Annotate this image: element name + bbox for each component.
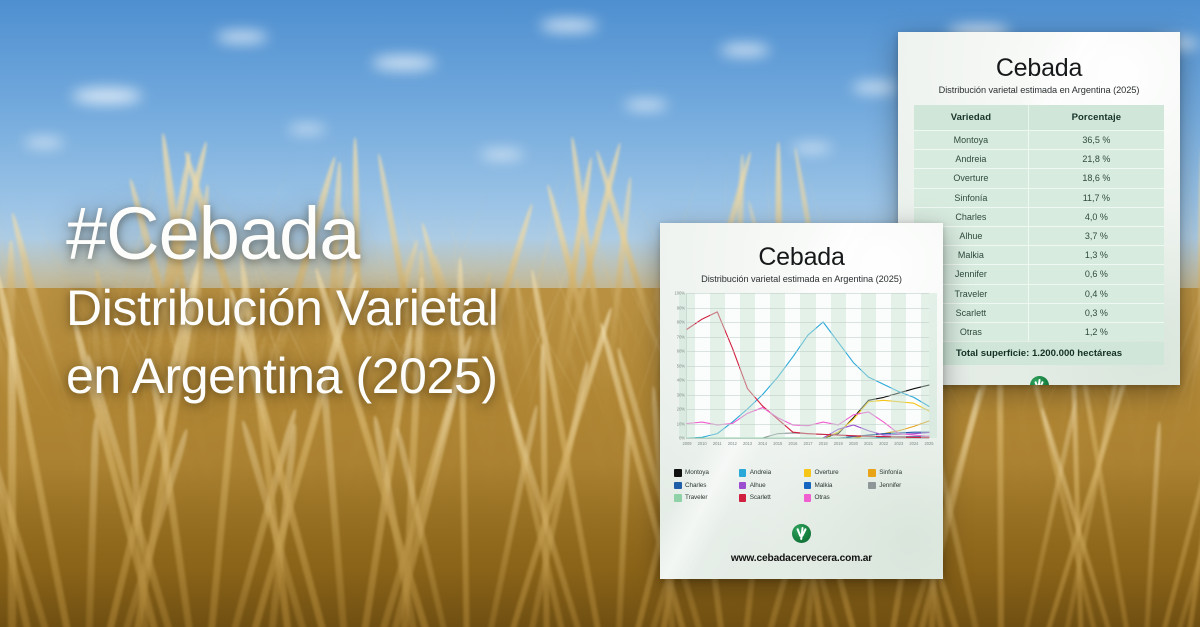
x-axis-tick-label: 2024 [909,441,918,446]
cell-percentage: 0,3 % [1028,303,1164,322]
table-row[interactable]: Scarlett 0,3 % [914,303,1164,322]
legend-label: Scarlett [750,494,771,501]
y-axis-tick-label: 70% [677,334,685,339]
y-axis-tick-label: 80% [677,320,685,325]
infographic-canvas: #Cebada Distribución Varietal en Argenti… [0,0,1200,627]
chart-card-brand: www.cebadacervecera.com.ar [660,524,943,564]
y-axis-tick-label: 10% [677,421,685,426]
chart-gridline [687,351,929,352]
legend-swatch-icon [868,469,876,477]
table-row[interactable]: Jennifer 0,6 % [914,265,1164,284]
total-surface-row: Total superficie: 1.200.000 hectáreas [914,342,1164,365]
x-axis-tick-label: 2023 [894,441,903,446]
chart-gridline [687,308,929,309]
cell-percentage: 0,4 % [1028,284,1164,303]
y-axis-tick-label: 40% [677,378,685,383]
chart-gridline [687,424,929,425]
chart-gridline [687,322,929,323]
legend-swatch-icon [739,482,747,490]
chart-gridline [687,293,929,294]
legend-item-traveler[interactable]: Traveler [674,494,737,502]
variety-table: VariedadPorcentaje Montoya 36,5 % Andrei… [914,105,1164,341]
chart-gridline [687,395,929,396]
x-axis-tick-label: 2022 [879,441,888,446]
variety-chart-card[interactable]: Cebada Distribución varietal estimada en… [660,223,943,579]
x-axis-tick-label: 2017 [803,441,812,446]
cell-percentage: 36,5 % [1028,131,1164,150]
table-row[interactable]: Overture 18,6 % [914,169,1164,188]
x-axis-tick-label: 2015 [773,441,782,446]
y-axis-tick-label: 50% [677,363,685,368]
legend-swatch-icon [804,494,812,502]
table-body: Montoya 36,5 % Andreia 21,8 % Overture 1… [914,131,1164,342]
legend-label: Alhue [750,482,766,489]
table-row[interactable]: Alhue 3,7 % [914,226,1164,245]
legend-item-montoya[interactable]: Montoya [674,469,737,477]
table-row[interactable]: Andreia 21,8 % [914,150,1164,169]
legend-swatch-icon [674,494,682,502]
cell-percentage: 21,8 % [1028,150,1164,169]
legend-swatch-icon [804,469,812,477]
table-card-subtitle: Distribución varietal estimada en Argent… [898,85,1180,95]
x-axis-tick-label: 2014 [758,441,767,446]
y-axis-tick-label: 0% [679,436,685,441]
x-axis-tick-label: 2020 [849,441,858,446]
x-axis-tick-label: 2025 [924,441,933,446]
legend-item-sinfonía[interactable]: Sinfonía [868,469,931,477]
legend-label: Sinfonía [879,469,902,476]
x-axis-tick-label: 2009 [682,441,691,446]
legend-label: Charles [685,482,706,489]
legend-swatch-icon [804,482,812,490]
legend-swatch-icon [739,494,747,502]
table-row[interactable]: Sinfonía 11,7 % [914,188,1164,207]
barley-logo-icon [1030,376,1049,385]
x-axis-tick-label: 2021 [864,441,873,446]
legend-label: Traveler [685,494,707,501]
table-row[interactable]: Malkia 1,3 % [914,246,1164,265]
chart-gridline [687,409,929,410]
cell-variety: Overture [914,169,1028,188]
legend-label: Montoya [685,469,709,476]
table-row[interactable]: Charles 4,0 % [914,207,1164,226]
chart-card-url[interactable]: www.cebadacervecera.com.ar [660,553,943,564]
cell-variety: Montoya [914,131,1028,150]
y-axis-tick-label: 60% [677,349,685,354]
x-axis-tick-label: 2016 [788,441,797,446]
cell-percentage: 1,3 % [1028,246,1164,265]
cell-percentage: 4,0 % [1028,207,1164,226]
cell-variety: Sinfonía [914,188,1028,207]
legend-label: Otras [815,494,830,501]
chart-gridline [687,438,929,439]
chart-card-title: Cebada [660,243,943,272]
cell-percentage: 18,6 % [1028,169,1164,188]
legend-item-malkia[interactable]: Malkia [804,482,867,490]
variety-table-wrapper: VariedadPorcentaje Montoya 36,5 % Andrei… [914,105,1164,341]
x-axis-tick-label: 2011 [713,441,722,446]
legend-swatch-icon [739,469,747,477]
table-card-title: Cebada [898,54,1180,83]
chart-gridline [687,337,929,338]
x-axis-tick-label: 2013 [743,441,752,446]
legend-item-otras[interactable]: Otras [804,494,867,502]
table-col-header-1: Porcentaje [1028,105,1164,131]
y-axis-tick-label: 100% [675,291,685,296]
cell-percentage: 3,7 % [1028,226,1164,245]
line-chart-plot: 0%10%20%30%40%50%60%70%80%90%100%2009201… [666,293,933,455]
legend-label: Overture [815,469,839,476]
legend-item-jennifer[interactable]: Jennifer [868,482,931,490]
y-axis-tick-label: 90% [677,305,685,310]
table-header-row: VariedadPorcentaje [914,105,1164,131]
legend-label: Andreia [750,469,771,476]
table-col-header-0: Variedad [914,105,1028,131]
table-row[interactable]: Otras 1,2 % [914,322,1164,341]
table-row[interactable]: Traveler 0,4 % [914,284,1164,303]
x-axis-tick-label: 2019 [834,441,843,446]
chart-legend: Montoya Andreia Overture Sinfonía Charle… [674,469,931,502]
table-row[interactable]: Montoya 36,5 % [914,131,1164,150]
y-axis-tick-label: 30% [677,392,685,397]
chart-gridline [687,380,929,381]
chart-gridline [687,366,929,367]
legend-item-andreia[interactable]: Andreia [739,469,802,477]
legend-item-alhue[interactable]: Alhue [739,482,802,490]
barley-logo-icon [792,524,811,543]
legend-item-scarlett[interactable]: Scarlett [739,494,802,502]
y-axis-tick-label: 20% [677,407,685,412]
legend-swatch-icon [674,482,682,490]
legend-swatch-icon [674,469,682,477]
cell-percentage: 11,7 % [1028,188,1164,207]
legend-label: Jennifer [879,482,901,489]
x-axis-tick-label: 2012 [728,441,737,446]
x-axis-tick-label: 2018 [819,441,828,446]
cell-percentage: 0,6 % [1028,265,1164,284]
legend-item-overture[interactable]: Overture [804,469,867,477]
legend-label: Malkia [815,482,833,489]
legend-item-charles[interactable]: Charles [674,482,737,490]
chart-card-subtitle: Distribución varietal estimada en Argent… [660,274,943,284]
cell-variety: Andreia [914,150,1028,169]
cell-percentage: 1,2 % [1028,322,1164,341]
legend-swatch-icon [868,482,876,490]
x-axis-tick-label: 2010 [698,441,707,446]
